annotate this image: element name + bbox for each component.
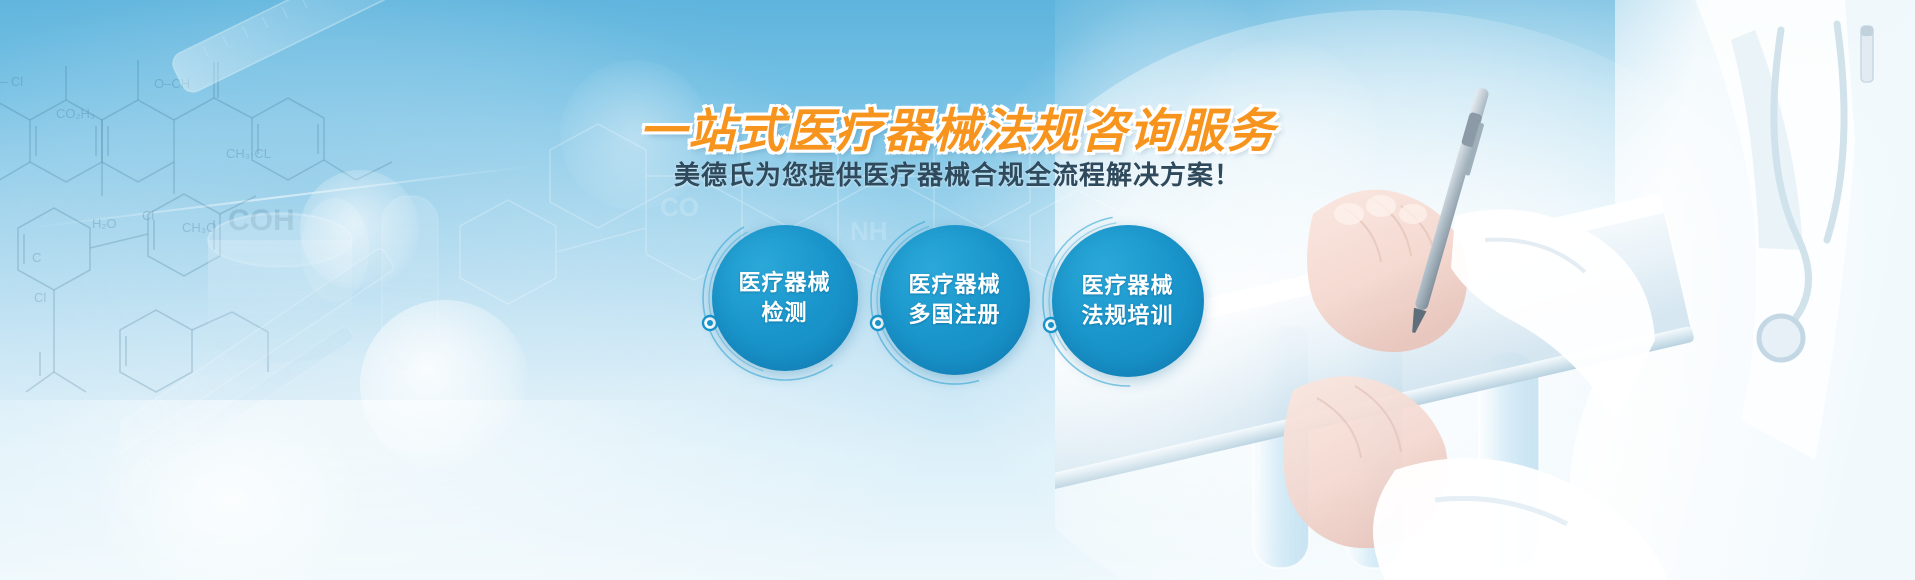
subheadline-text: 美德氏为您提供医疗器械合规全流程解决方案！	[674, 155, 1241, 192]
badge-line-1: 医疗器械	[908, 272, 1000, 298]
svg-text:Cl: Cl	[142, 208, 154, 223]
headline-text: 一站式医疗器械法规咨询服务	[639, 92, 1276, 161]
badge-line-2: 检测	[761, 300, 807, 326]
badge-circle[interactable]: 医疗器械 多国注册	[880, 225, 1030, 375]
svg-text:CO: CO	[660, 192, 699, 222]
service-badge-multi-country-registration[interactable]: 医疗器械 多国注册	[880, 225, 1030, 375]
service-badge-medical-device-testing[interactable]: 医疗器械 检测	[712, 225, 858, 371]
badge-line-1: 医疗器械	[1081, 273, 1173, 299]
bokeh-circle-4	[100, 400, 360, 580]
badge-line-2: 多国注册	[908, 302, 1000, 328]
service-badge-regulatory-training[interactable]: 医疗器械 法规培训	[1052, 225, 1204, 377]
badge-line-1: 医疗器械	[738, 270, 830, 296]
badge-circle[interactable]: 医疗器械 法规培训	[1052, 225, 1204, 377]
svg-text:– Cl: – Cl	[0, 74, 23, 89]
badge-circle[interactable]: 医疗器械 检测	[712, 225, 858, 371]
badge-line-2: 法规培训	[1081, 303, 1173, 329]
banner-subheadline: 美德氏为您提供医疗器械合规全流程解决方案！	[0, 155, 1915, 192]
svg-text:O–CH: O–CH	[154, 76, 190, 91]
service-badge-group: 医疗器械 检测 医疗器械 多国注册	[0, 225, 1915, 377]
banner-headline: 一站式医疗器械法规咨询服务	[0, 92, 1915, 161]
medical-regulatory-banner: – Cl O–CH CO₂H₃ CH₃·CL H₂O Cl Cl C CH₃O …	[0, 0, 1915, 580]
